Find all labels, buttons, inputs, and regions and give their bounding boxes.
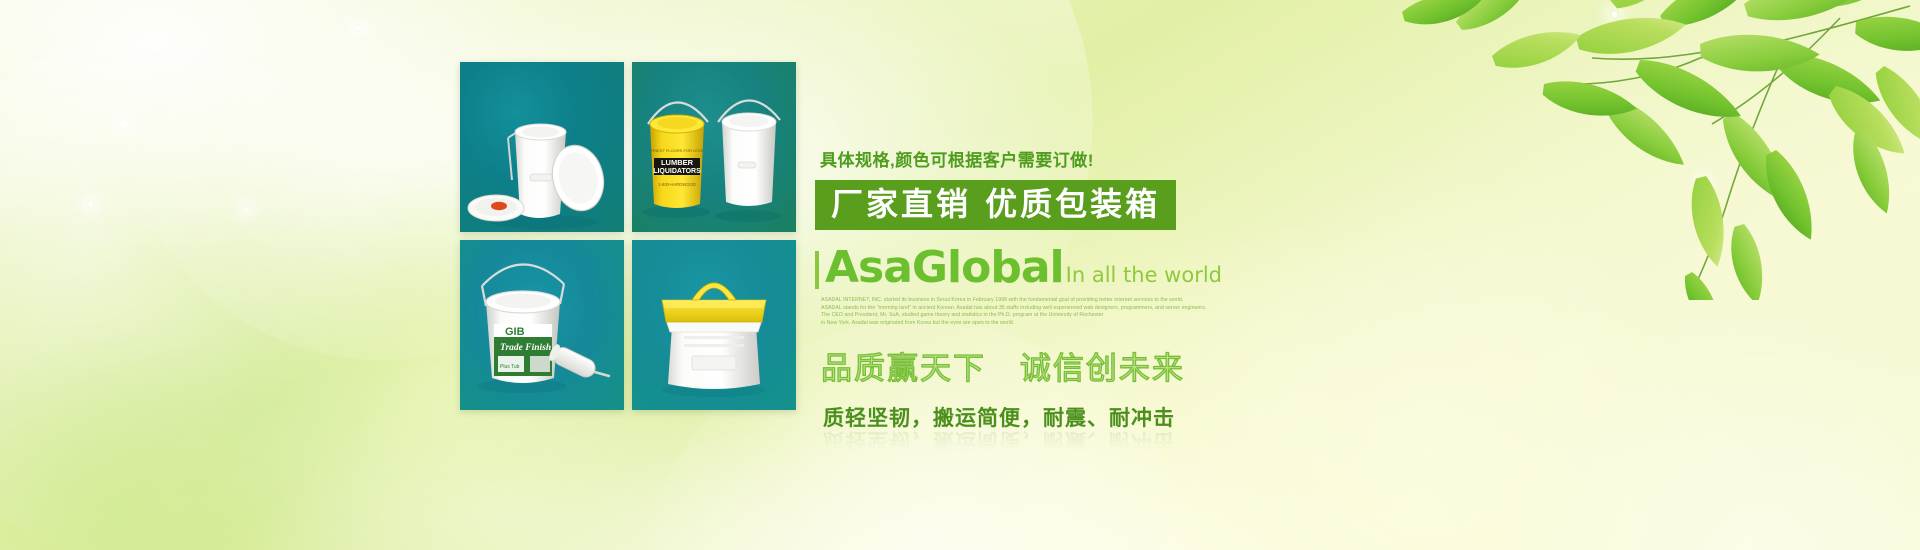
brand-row: AsaGlobal In all the world — [815, 246, 1455, 290]
slogan-part-left: 品质赢天下 — [821, 351, 986, 387]
svg-text:GIB: GIB — [505, 326, 525, 338]
slogan-part-right: 诚信创未来 — [1020, 351, 1185, 387]
svg-text:1-800-HARDWOOD: 1-800-HARDWOOD — [658, 182, 695, 187]
company-slogan: 品质赢天下 诚信创未来 — [821, 343, 1455, 388]
feature-line-wrap: 质轻坚韧，搬运简便，耐震、耐冲击 质轻坚韧，搬运简便，耐震、耐冲击 — [823, 402, 1455, 432]
svg-text:LIQUIDATORS: LIQUIDATORS — [653, 168, 701, 175]
product-photo-white-bucket-with-lid[interactable] — [460, 62, 624, 232]
svg-text:Trade Finish: Trade Finish — [500, 343, 551, 353]
light-flare — [1905, 32, 1913, 40]
light-flare — [1700, 178, 1707, 185]
brand-tagline: In all the world — [1066, 263, 1222, 287]
promo-copy: 具体规格,颜色可根据客户需要订做! 厂家直销 优质包装箱 AsaGlobal I… — [815, 146, 1455, 432]
product-image-grid: LUMBER LIQUIDATORS FINEST FLOORS FOR LES… — [460, 62, 796, 410]
svg-text:FINEST FLOORS FOR LESS: FINEST FLOORS FOR LESS — [651, 148, 704, 153]
spec-note: 具体规格,颜色可根据客户需要订做! — [820, 146, 1455, 171]
feature-line-reflection: 质轻坚韧，搬运简便，耐震、耐冲击 — [823, 427, 1175, 457]
brand-accent-bar — [815, 251, 819, 289]
light-flare — [355, 24, 363, 32]
light-flare — [1610, 10, 1619, 19]
light-flare — [243, 206, 250, 213]
fineprint-line: The CEO and President, Mr. SuA, studied … — [821, 312, 1216, 320]
fineprint-line: ASADAL stands for the "morning land" in … — [821, 305, 1216, 313]
fineprint-line: in New York. Asadal was originated from … — [821, 320, 1216, 328]
promo-banner: LUMBER LIQUIDATORS FINEST FLOORS FOR LES… — [0, 0, 1920, 550]
product-photo-yellow-and-white-buckets[interactable]: LUMBER LIQUIDATORS FINEST FLOORS FOR LES… — [632, 62, 796, 232]
product-photo-white-toolbox[interactable] — [632, 240, 796, 410]
svg-text:LUMBER: LUMBER — [661, 158, 694, 167]
brand-name: AsaGlobal — [825, 246, 1064, 290]
headline-ribbon: 厂家直销 优质包装箱 — [815, 180, 1176, 230]
fineprint-line: ASADAL INTERNET, INC. started its busine… — [821, 297, 1216, 305]
light-flare — [118, 118, 130, 130]
product-photo-white-bucket-green-label[interactable]: GIB Trade Finish Plus Tub — [460, 240, 624, 410]
light-flare — [86, 200, 95, 209]
svg-text:Plus Tub: Plus Tub — [500, 364, 520, 370]
company-description: ASADAL INTERNET, INC. started its busine… — [821, 297, 1216, 327]
